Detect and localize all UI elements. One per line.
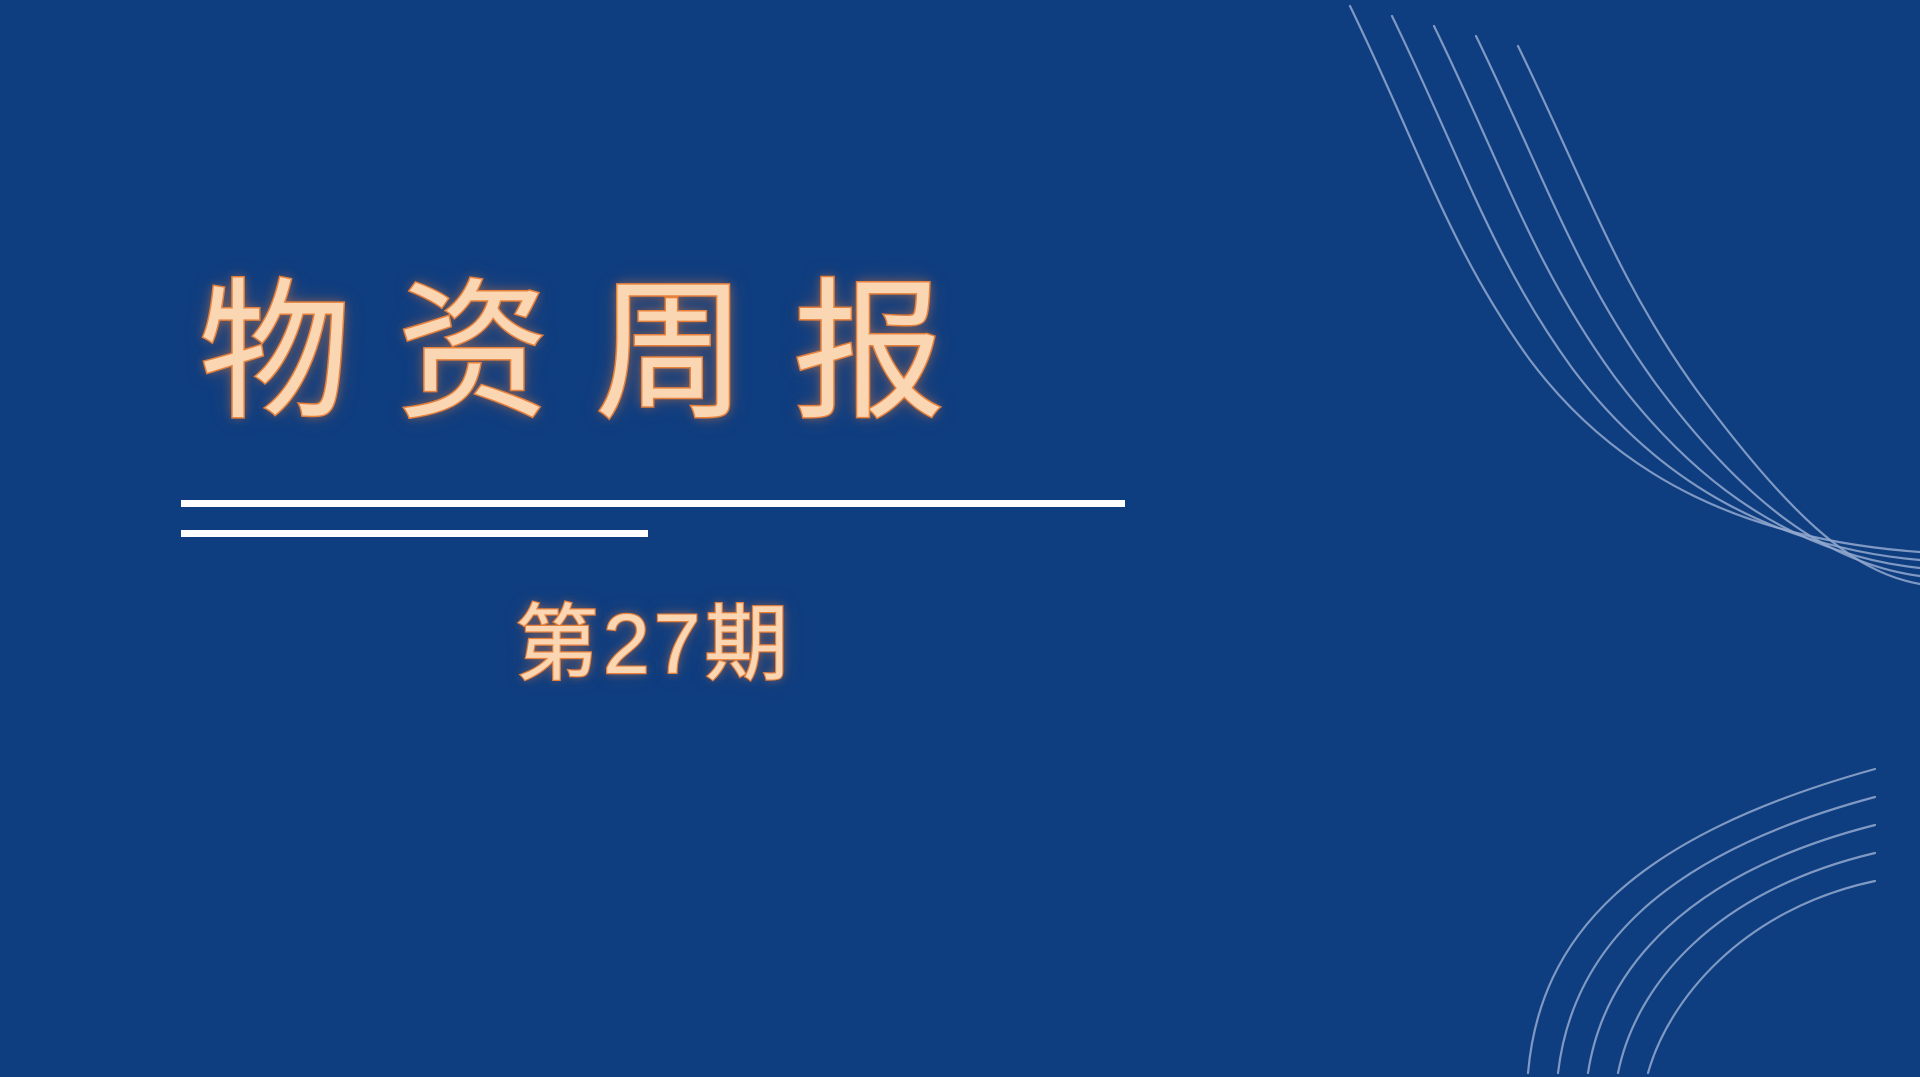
curved-lines-bottom-right-icon	[1500, 727, 1920, 1077]
title-underline-short	[181, 530, 648, 537]
subtitle-issue-number: 第27期	[515, 598, 792, 690]
title-slide: 物资周报 第27期	[0, 0, 1920, 1077]
page-title: 物资周报	[199, 268, 1381, 438]
title-underline-long	[181, 500, 1125, 507]
title-block: 物资周报 第27期	[181, 268, 1381, 438]
curved-lines-top-right-icon	[1300, 0, 1920, 600]
